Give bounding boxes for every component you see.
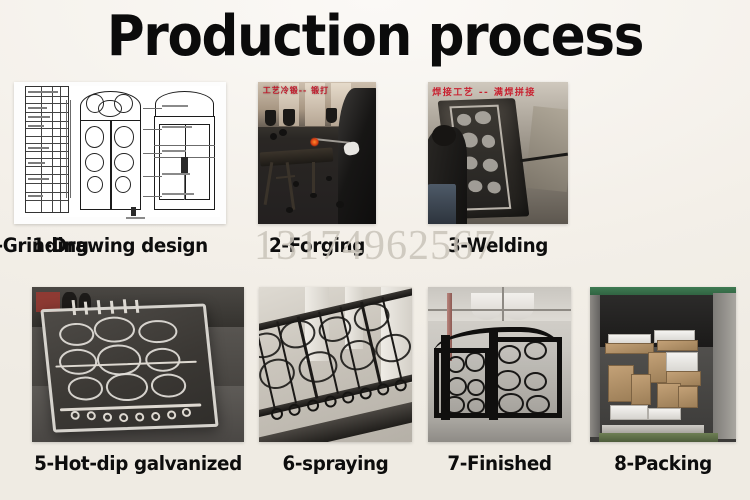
process-step-7-caption: 7-Finished bbox=[415, 452, 583, 475]
worker-legs bbox=[428, 184, 456, 224]
packing-container-photo[interactable] bbox=[590, 287, 736, 442]
forging-overlay-text: 工艺冷锻-- 锻打 bbox=[263, 85, 329, 96]
process-step-5-caption: 5-Hot-dip galvanized bbox=[1, 452, 275, 475]
galvanized-gate-panel bbox=[40, 303, 219, 432]
process-row-top: 1-Drawing design 工艺冷锻-- 锻打 bbox=[0, 82, 750, 257]
process-step-4-caption: 4-Grinding bbox=[0, 234, 17, 257]
process-step-8[interactable]: 8-Packing bbox=[590, 287, 736, 442]
hot-metal-glow bbox=[310, 137, 319, 147]
page-title: Production process bbox=[30, 6, 720, 68]
drawing-title-block bbox=[25, 86, 70, 212]
welding-workshop-photo[interactable]: 焊接工艺 -- 满焊拼接 bbox=[428, 82, 568, 224]
process-step-8-caption: 8-Packing bbox=[577, 452, 748, 475]
forging-workshop-photo[interactable]: 工艺冷锻-- 锻打 bbox=[258, 82, 376, 224]
process-step-2[interactable]: 工艺冷锻-- 锻打 2-Forging bbox=[258, 82, 376, 224]
process-row-bottom: 5-Hot-dip galvanized bbox=[0, 287, 750, 487]
drawing-elevation-ornate bbox=[80, 91, 141, 210]
process-step-6-caption: 6-spraying bbox=[247, 452, 425, 475]
process-step-6[interactable]: 6-spraying bbox=[259, 287, 412, 442]
process-step-7[interactable]: 7-Finished bbox=[428, 287, 571, 442]
workshop-floor bbox=[428, 420, 571, 442]
worker-head bbox=[432, 125, 456, 146]
finished-gate-photo[interactable] bbox=[428, 287, 571, 442]
process-step-3-caption: 3-Welding bbox=[415, 234, 580, 257]
container-floor bbox=[599, 433, 719, 442]
process-step-2-caption: 2-Forging bbox=[245, 234, 390, 257]
hot-dip-galvanized-gate-photo[interactable] bbox=[32, 287, 244, 442]
side-panel bbox=[525, 106, 568, 192]
cad-drawing-design-photo[interactable] bbox=[14, 82, 226, 224]
finished-gate-panel bbox=[434, 327, 563, 423]
container-left-wall bbox=[590, 295, 600, 438]
container-right-wall bbox=[713, 293, 736, 439]
spraying-gate-photo[interactable] bbox=[259, 287, 412, 442]
welding-overlay-text: 焊接工艺 -- 满焊拼接 bbox=[432, 85, 536, 98]
process-step-5[interactable]: 5-Hot-dip galvanized bbox=[32, 287, 244, 442]
process-step-3[interactable]: 焊接工艺 -- 满焊拼接 3-Welding bbox=[428, 82, 568, 224]
process-step-1[interactable]: 1-Drawing design bbox=[14, 82, 226, 224]
